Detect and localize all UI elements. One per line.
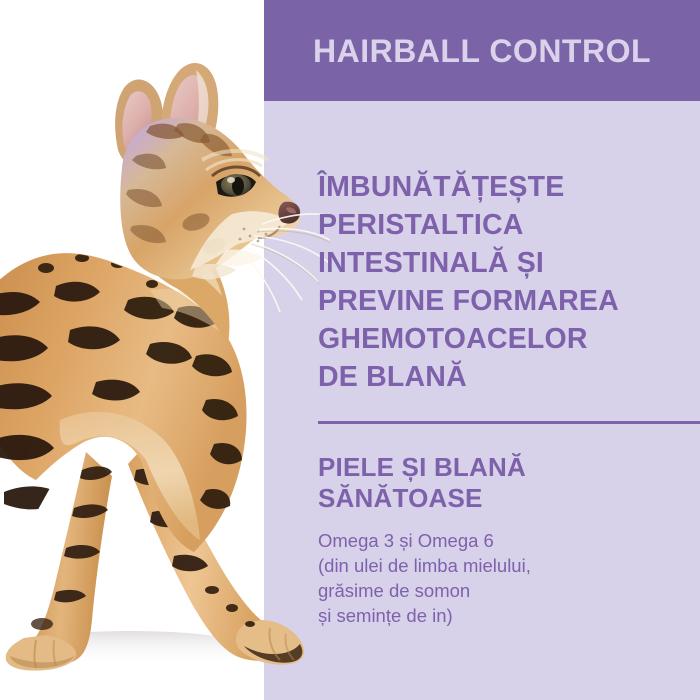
- sub-claim-body-line: Omega 3 și Omega 6: [318, 528, 688, 553]
- cat-nose: [278, 202, 300, 224]
- sub-claim-heading-line: SĂNĂTOASE: [318, 483, 688, 514]
- product-feature-banner: HAIRBALL CONTROL: [0, 0, 700, 700]
- bengal-cat-illustration: [0, 0, 330, 700]
- claim-line: ÎMBUNĂTĂȚEȘTE: [318, 168, 678, 206]
- claim-line: PREVINE FORMAREA: [318, 282, 678, 320]
- claim-line: PERISTALTICA: [318, 206, 678, 244]
- claim-line: DE BLANĂ: [318, 358, 678, 396]
- primary-claim-block: ÎMBUNĂTĂȚEȘTE PERISTALTICA INTESTINALĂ Ș…: [318, 168, 678, 396]
- sub-claim-body-line: și semințe de in): [318, 603, 688, 628]
- sub-claim-body-line: (din ulei de limba mielului,: [318, 553, 688, 578]
- section-divider: [318, 421, 700, 424]
- claim-line: GHEMOTOACELOR: [318, 320, 678, 358]
- sub-claim-body-line: grăsime de somon: [318, 578, 688, 603]
- cat-head: [115, 63, 330, 312]
- sub-claim-heading-line: PIELE ȘI BLANĂ: [318, 452, 688, 483]
- sub-claim-body: Omega 3 și Omega 6 (din ulei de limba mi…: [318, 528, 688, 628]
- secondary-claim-block: PIELE ȘI BLANĂ SĂNĂTOASE Omega 3 și Omeg…: [318, 452, 688, 628]
- claim-line: INTESTINALĂ ȘI: [318, 244, 678, 282]
